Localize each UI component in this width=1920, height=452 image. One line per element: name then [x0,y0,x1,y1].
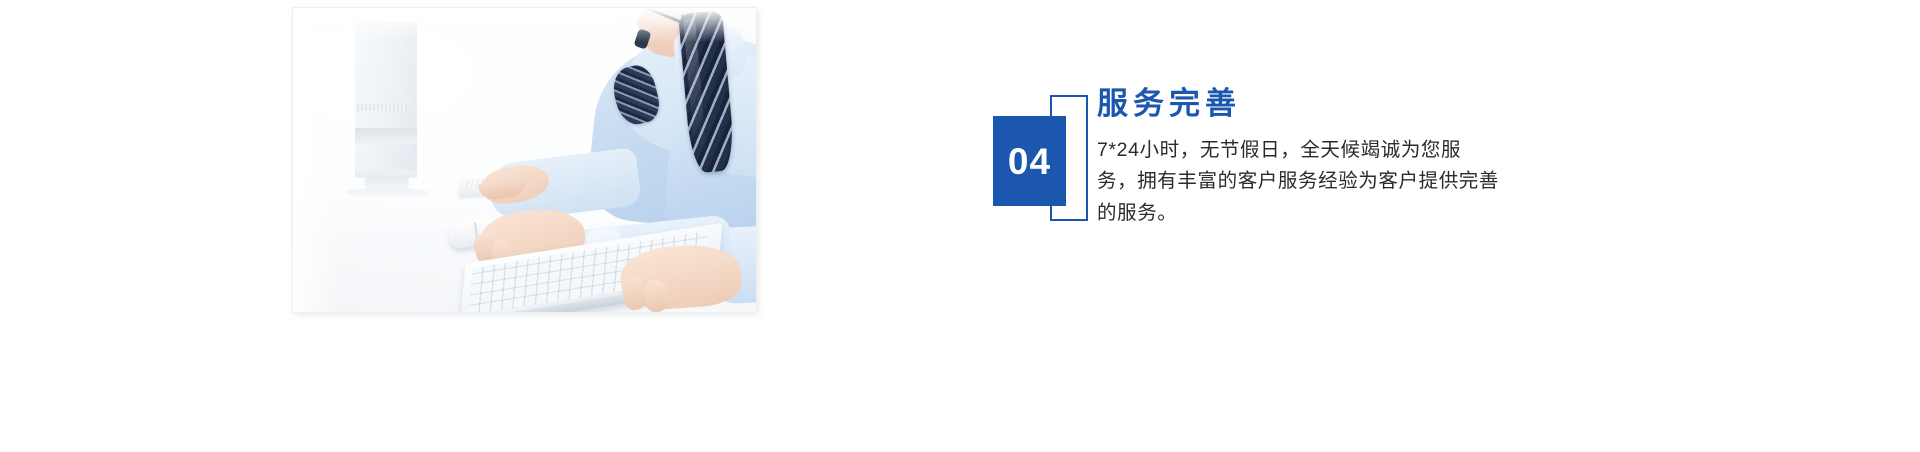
monitor-vent [357,104,407,111]
feature-title: 服务完善 [1097,86,1517,122]
feature-section: 04 服务完善 7*24小时，无节假日，全天候竭诚为您服务，拥有丰富的客户服务经… [0,0,1920,452]
badge-filled-square: 04 [993,116,1066,206]
feature-description: 7*24小时，无节假日，全天候竭诚为您服务，拥有丰富的客户服务经验为客户提供完善… [1097,135,1501,230]
badge-number: 04 [1008,143,1051,180]
photo-left-fade [293,8,339,312]
feature-text-column: 服务完善 7*24小时，无节假日，全天候竭诚为您服务，拥有丰富的客户服务经验为客… [1097,86,1517,229]
photo-scene [293,8,756,312]
monitor-base [345,188,429,198]
monitor-chin [355,128,417,144]
front-agent-finger [644,279,668,312]
photo-top-fade [293,8,756,42]
feature-number-badge: 04 [993,86,1089,222]
monitor-screen [355,22,417,170]
feature-photo [293,8,756,312]
